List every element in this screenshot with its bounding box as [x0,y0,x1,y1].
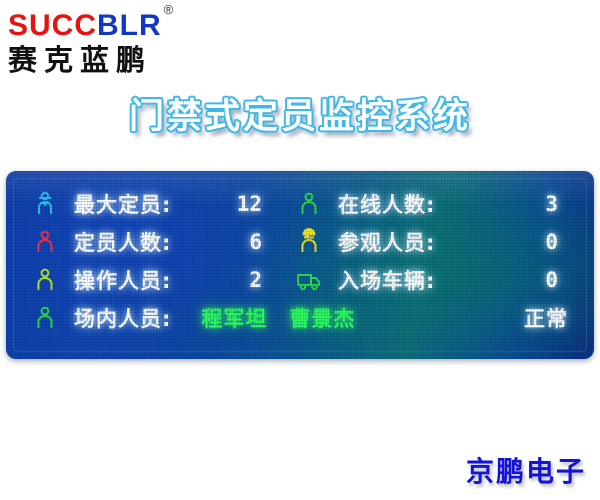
person-cap-icon [30,189,60,219]
person-icon [30,227,60,257]
person-icon [30,303,60,333]
footer-company-name: 京鹏电子 [466,450,586,490]
led-value: 3 [545,192,584,216]
led-label: 场内人员: [74,303,171,333]
brand-wordmark-red: SUCC [8,9,97,42]
truck-icon [294,265,324,295]
page-title: 门禁式定员监控系统 [0,88,600,139]
led-label: 最大定员: [74,189,171,219]
person-icon [30,265,60,295]
led-label: 操作人员: [74,265,171,295]
led-value: 2 [249,268,284,292]
led-row: 定员人数: 6 参观人员: 0 [6,223,594,261]
led-display-panel: 最大定员: 12 在线人数: 3 [6,171,594,359]
brand-logo: SUCCBLR® 赛克蓝鹏 [8,4,218,76]
brand-chinese-name: 赛克蓝鹏 [8,43,218,77]
status-text: 正常 [524,307,568,331]
led-field-max-capacity: 最大定员: 12 [6,185,284,223]
brand-wordmark: SUCCBLR® [8,4,218,42]
led-field-operator-count: 操作人员: 2 [6,261,284,299]
led-value: 6 [249,230,284,254]
led-label: 入场车辆: [338,265,435,295]
personnel-name: 曹景杰 [289,303,355,333]
led-row: 操作人员: 2 入场车辆: 0 [6,261,594,299]
led-label: 在线人数: [338,189,435,219]
led-label: 定员人数: [74,227,171,257]
person-hat-icon [294,227,324,257]
status-badge: 正常 [524,303,594,333]
led-field-vehicle-count: 入场车辆: 0 [284,261,584,299]
led-field-quota-count: 定员人数: 6 [6,223,284,261]
led-value: 0 [545,230,584,254]
led-field-online-count: 在线人数: 3 [284,185,584,223]
led-row: 最大定员: 12 在线人数: 3 [6,185,594,223]
led-field-visitor-count: 参观人员: 0 [284,223,584,261]
led-value: 0 [545,268,584,292]
brand-wordmark-blue: BLR [97,9,162,42]
person-icon [294,189,324,219]
registered-trademark-icon: ® [164,2,175,17]
led-value: 12 [237,192,284,216]
led-field-onsite-personnel: 场内人员: [6,303,171,333]
led-label: 参观人员: [338,227,435,257]
led-rows-container: 最大定员: 12 在线人数: 3 [6,171,594,359]
personnel-name: 程军坦 [201,303,267,333]
onsite-personnel-names: 程军坦 曹景杰 [201,303,355,333]
led-row: 场内人员: 程军坦 曹景杰 正常 [6,299,594,337]
